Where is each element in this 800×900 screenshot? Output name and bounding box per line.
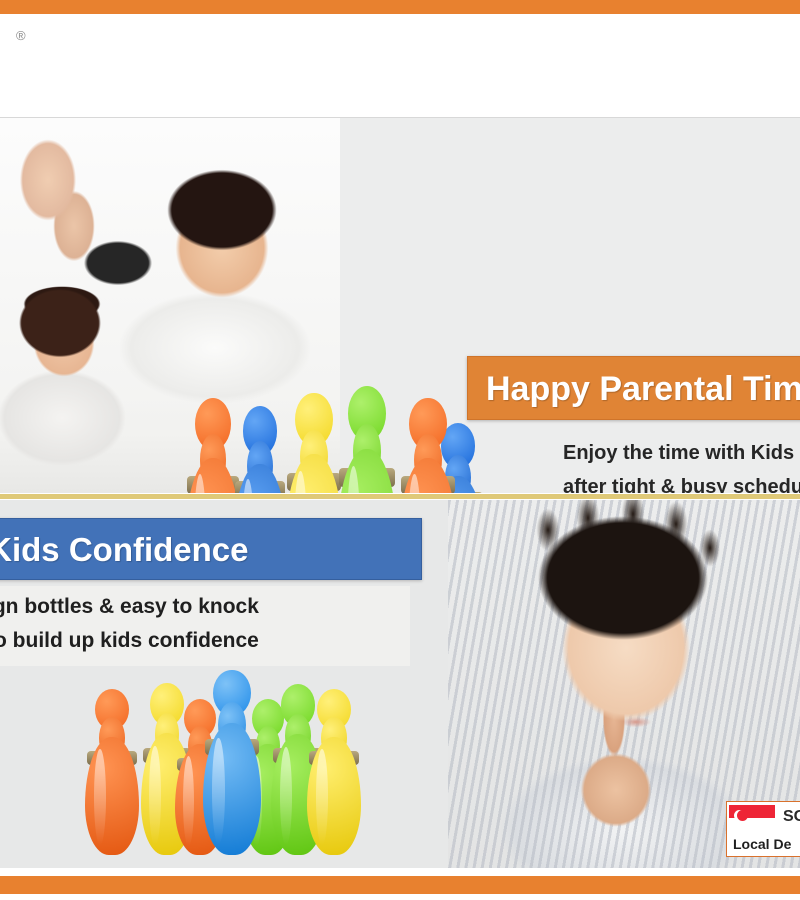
panel-2-body: low design bottles & easy to knock wn , …: [0, 586, 410, 666]
panel-1-body: Enjoy the time with Kids after tight & b…: [563, 436, 800, 493]
sg-country-code: SG: [775, 808, 800, 826]
bowling-pin: [233, 414, 287, 493]
brand-logo[interactable]: C ® ds: [0, 20, 108, 116]
bowling-pin: [399, 406, 457, 493]
bowling-pin: [285, 401, 343, 493]
panel-1-body-line-1: Enjoy the time with Kids: [563, 436, 800, 470]
top-orange-rule: [0, 0, 800, 14]
panel-2-heading-text: ilding Kids Confidence: [0, 519, 421, 581]
bowling-pin: [307, 695, 361, 855]
bowling-pin: [85, 695, 139, 855]
panel-1-body-line-2: after tight & busy schedu: [563, 470, 800, 493]
bowling-pin: [203, 677, 261, 855]
gold-divider: [0, 493, 800, 500]
header-band: C ® ds: [0, 14, 800, 118]
bowling-pins-group-2: [75, 670, 365, 855]
registered-trademark-icon: ®: [16, 28, 26, 43]
sg-local-delivery-badge: SG Local De: [726, 801, 800, 857]
panel-2-body-line-1: low design bottles & easy to knock: [0, 590, 410, 624]
singapore-flag-icon: [729, 805, 775, 831]
panel-happy-parental-time: Happy Parental Tim Enjoy the time with K…: [0, 118, 800, 493]
panel-1-heading-box: Happy Parental Tim: [467, 356, 800, 420]
panel-2-heading-box: ilding Kids Confidence: [0, 518, 422, 580]
bottom-orange-rule: [0, 876, 800, 894]
bowling-pins-group-1: [185, 376, 485, 493]
panel-building-kids-confidence: ilding Kids Confidence low design bottle…: [0, 500, 800, 868]
sg-badge-top-row: SG: [727, 802, 800, 832]
sg-delivery-label: Local De: [727, 832, 800, 856]
bowling-pin: [337, 394, 397, 493]
panel-2-body-line-2: wn , so to build up kids confidence: [0, 624, 410, 658]
panel-1-heading-text: Happy Parental Tim: [468, 357, 800, 421]
product-banner-page: C ® ds: [0, 0, 800, 900]
